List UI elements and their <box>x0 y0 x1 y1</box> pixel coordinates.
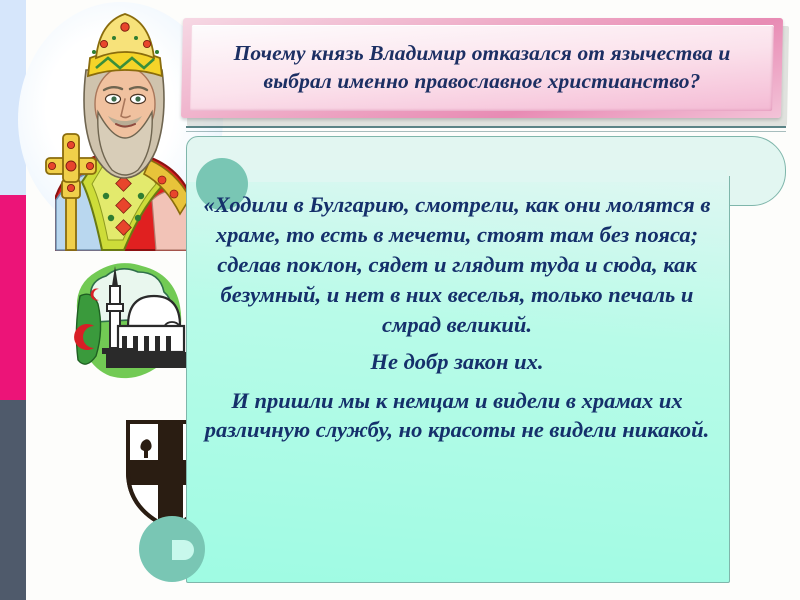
title-divider-lower <box>186 131 786 132</box>
title-plaque-face: Почему князь Владимир отказался от языче… <box>190 25 774 111</box>
mosque-illustration <box>62 252 190 388</box>
quote-paragraph-1: «Ходили в Булгарию, смотрели, как они мо… <box>196 190 718 340</box>
content-panel-seam <box>187 170 727 182</box>
quote-text-block: «Ходили в Булгарию, смотрели, как они мо… <box>196 190 718 454</box>
slide-canvas: Почему князь Владимир отказался от языче… <box>0 0 800 600</box>
accent-circle-notch <box>172 540 194 560</box>
edge-bar-slate-gray <box>0 400 26 600</box>
title-plaque: Почему князь Владимир отказался от языче… <box>182 18 788 122</box>
edge-bar-magenta <box>0 195 26 400</box>
slide-title: Почему князь Владимир отказался от языче… <box>202 40 762 95</box>
quote-paragraph-3: И пришли мы к немцам и видели в храмах и… <box>196 386 718 446</box>
quote-paragraph-2: Не добр закон их. <box>196 347 718 377</box>
title-divider-upper <box>186 126 786 128</box>
